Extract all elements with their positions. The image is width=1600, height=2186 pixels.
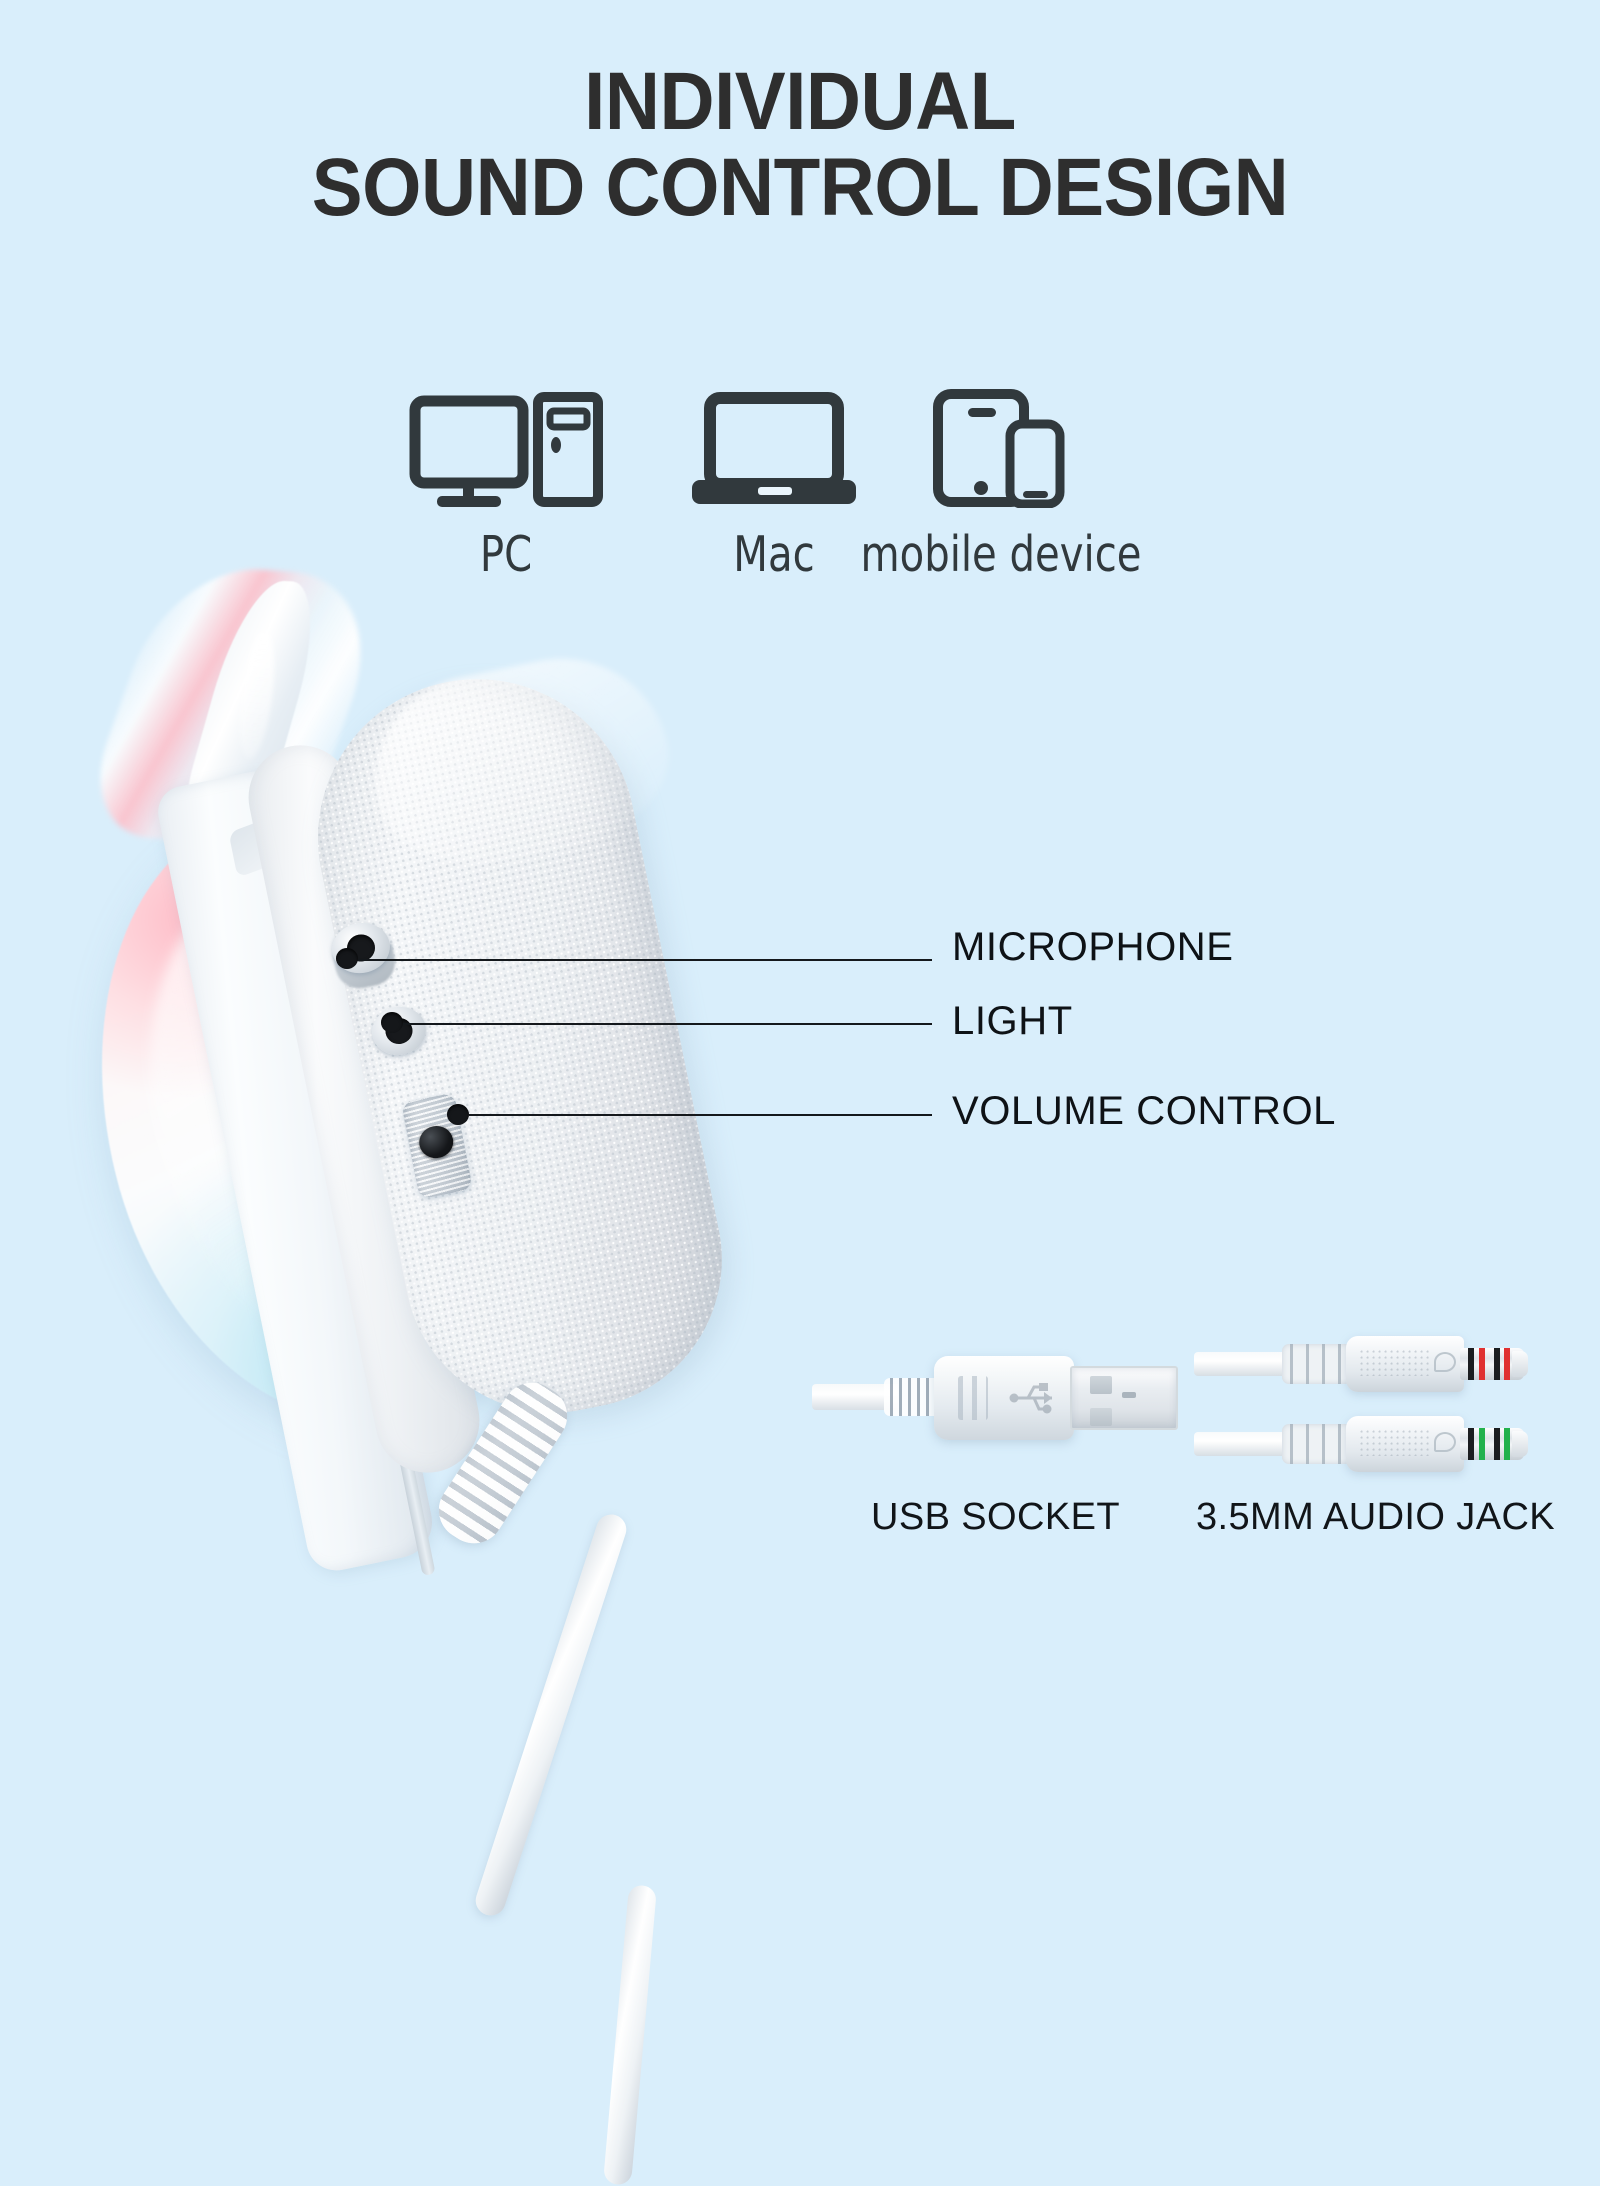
jack-cable	[1194, 1432, 1292, 1456]
jack-insulator-band	[1468, 1428, 1474, 1460]
audio-jack-caption: 3.5MM AUDIO JACK	[1196, 1496, 1555, 1539]
jack-color-ring	[1504, 1428, 1510, 1460]
jack-insulator-band	[1494, 1428, 1500, 1460]
jack-color-ring	[1479, 1348, 1485, 1380]
jack-color-ring	[1504, 1348, 1510, 1380]
jack-tip	[1512, 1351, 1528, 1377]
jack-strain-relief	[1282, 1344, 1352, 1384]
jack-insulator-band	[1494, 1348, 1500, 1380]
usb-plug-notch	[1122, 1392, 1136, 1398]
jack-barrel-texture	[1360, 1430, 1432, 1456]
jack-barrel-texture	[1360, 1350, 1432, 1376]
jack-cable	[1194, 1352, 1292, 1376]
usb-metal-plug	[1070, 1366, 1178, 1430]
microphone-audio-jack	[1194, 1328, 1524, 1402]
usb-connector-icon	[812, 1338, 1188, 1458]
usb-contact-pad	[1090, 1408, 1112, 1426]
usb-contact-pad	[1090, 1376, 1112, 1394]
jack-strain-relief	[1282, 1424, 1352, 1464]
jack-color-ring	[1479, 1428, 1485, 1460]
usb-trident-logo-icon	[1008, 1378, 1060, 1418]
headset-cable-segment	[603, 1884, 657, 2185]
usb-shell-slots	[958, 1376, 988, 1420]
jack-tip	[1512, 1431, 1528, 1457]
microphone-symbol-icon	[1434, 1352, 1456, 1372]
connectors-section: USB SOCKET 3.5MM AUDIO JACK	[0, 0, 1600, 1600]
jack-insulator-band	[1468, 1348, 1474, 1380]
headphone-audio-jack	[1194, 1408, 1524, 1482]
headphone-symbol-icon	[1434, 1432, 1456, 1452]
usb-socket-caption: USB SOCKET	[871, 1496, 1120, 1539]
